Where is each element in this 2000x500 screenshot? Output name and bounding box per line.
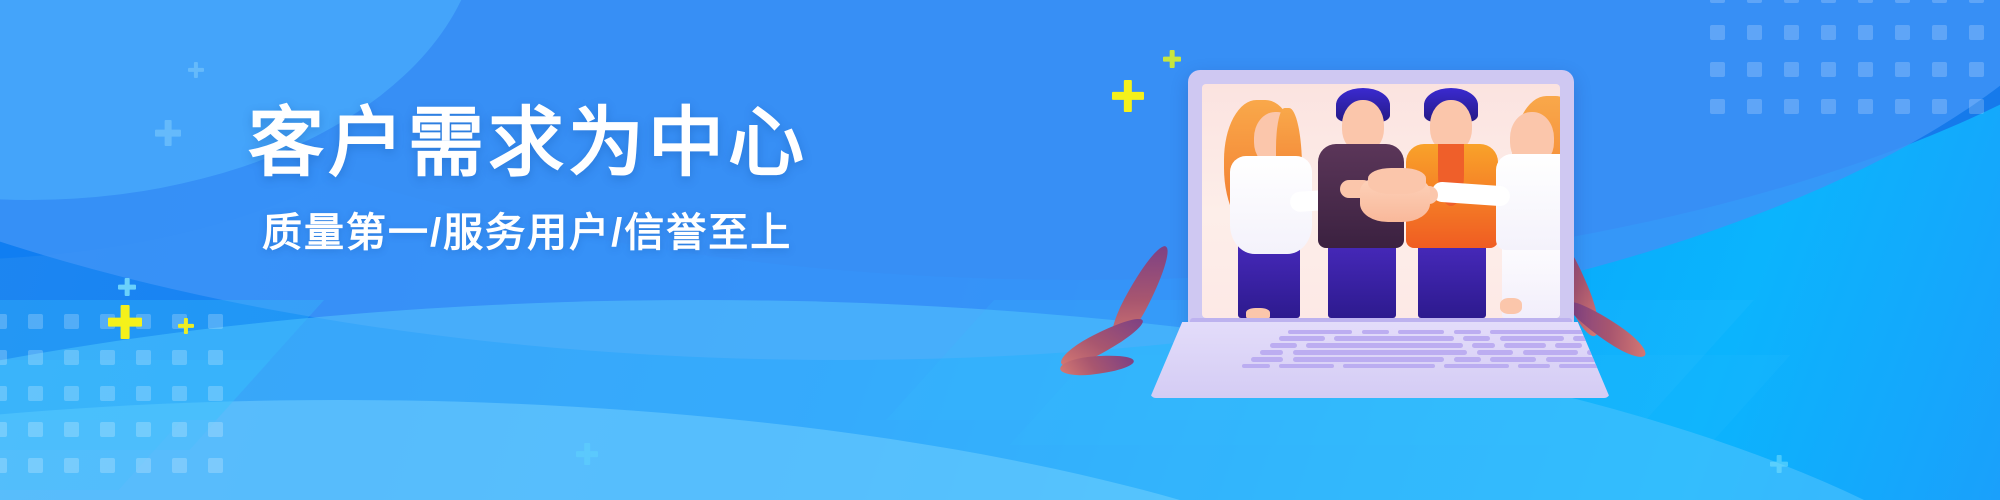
keyboard-key [1587, 350, 1605, 355]
dot [136, 422, 151, 437]
hand [1500, 298, 1522, 314]
dot [1747, 25, 1762, 40]
dot [100, 458, 115, 473]
dot [208, 422, 223, 437]
keyboard-key [1477, 350, 1514, 355]
dot [1932, 25, 1947, 40]
plus-cyan-rightedge-icon [1770, 455, 1788, 473]
dot [1821, 25, 1836, 40]
dot [1895, 99, 1910, 114]
dot [1821, 99, 1836, 114]
dot [208, 350, 223, 365]
keyboard-key [1398, 330, 1444, 335]
keyboard-key [1523, 350, 1578, 355]
keyboard-key [1500, 336, 1564, 341]
keyboard-key [1362, 330, 1390, 335]
dot [100, 422, 115, 437]
dot [1895, 0, 1910, 3]
dot [136, 314, 151, 329]
dot [1969, 25, 1984, 40]
dot-grid-bottom-left [0, 314, 252, 500]
dot [1858, 99, 1873, 114]
dot [1821, 0, 1836, 3]
dot [1969, 99, 1984, 114]
keyboard-key [1592, 343, 1610, 348]
keyboard-key [1444, 364, 1508, 369]
dot [136, 458, 151, 473]
dot [1710, 0, 1725, 3]
plus-cyan-small-left-icon [118, 278, 136, 296]
keyboard-key [1293, 357, 1445, 362]
banner-subtitle: 质量第一/服务用户/信誉至上 [262, 211, 948, 255]
person-woman-right [1484, 92, 1560, 318]
plus-yellow-small-right-icon [1163, 50, 1181, 68]
dot [1747, 0, 1762, 3]
dot [0, 458, 7, 473]
keyboard-key [1288, 330, 1352, 335]
chevron-band-left-1 [0, 300, 324, 420]
page-title: 客户需求为中心 [248, 104, 948, 185]
dot [1932, 0, 1947, 3]
chevron-band-left-3 [0, 420, 182, 490]
keyboard-key [1546, 357, 1601, 362]
dot [1895, 25, 1910, 40]
dot [172, 314, 187, 329]
laptop-illustration [1150, 70, 1610, 360]
dot [28, 458, 43, 473]
keyboard-key [1490, 357, 1536, 362]
dot [100, 350, 115, 365]
dot [28, 314, 43, 329]
laptop-lid [1188, 70, 1574, 328]
background-wave-lower-pale [0, 400, 1540, 500]
dot [0, 422, 7, 437]
dot [1710, 25, 1725, 40]
dot [208, 314, 223, 329]
keyboard-key [1454, 357, 1482, 362]
laptop-screen [1202, 84, 1560, 318]
dot [1821, 62, 1836, 77]
banner-copy: 客户需求为中心 质量第一/服务用户/信誉至上 [248, 104, 948, 255]
dot [172, 386, 187, 401]
keyboard-key [1279, 364, 1334, 369]
keyboard-key [1242, 364, 1270, 369]
plus-yellow-large-right-icon [1112, 80, 1144, 112]
keyboard-key [1454, 330, 1482, 335]
dot [1710, 62, 1725, 77]
keyboard-key [1293, 350, 1468, 355]
stacked-hands-upper [1368, 168, 1426, 194]
keyboard-key [1306, 343, 1462, 348]
dot [100, 314, 115, 329]
dot [1969, 0, 1984, 3]
plus-cyan-mid-left-icon [576, 443, 598, 465]
keyboard-key [1334, 336, 1454, 341]
dot [1858, 62, 1873, 77]
dot [64, 422, 79, 437]
laptop-keyboard-base [1150, 322, 1610, 398]
dot [172, 422, 187, 437]
dot [208, 386, 223, 401]
dot [1858, 25, 1873, 40]
dot [64, 458, 79, 473]
keyboard-key [1270, 343, 1298, 348]
plus-yellow-small-left-icon [178, 318, 194, 334]
keyboard-key [1343, 364, 1435, 369]
dot [0, 386, 7, 401]
dot [28, 350, 43, 365]
dot [1784, 99, 1799, 114]
dot [172, 350, 187, 365]
chevron-band-left-2 [0, 360, 271, 450]
dot [64, 314, 79, 329]
plus-cyan-faint-mid-icon [155, 120, 181, 146]
keyboard-key [1518, 364, 1550, 369]
keyboard-key [1260, 350, 1283, 355]
dot [0, 314, 7, 329]
promo-banner: 客户需求为中心 质量第一/服务用户/信誉至上 [0, 0, 2000, 500]
dot [100, 386, 115, 401]
dot-grid-top-right [1710, 0, 2000, 128]
dot [1747, 99, 1762, 114]
dot [208, 458, 223, 473]
dot [1969, 62, 1984, 77]
dot [64, 386, 79, 401]
dot [136, 350, 151, 365]
dot [64, 350, 79, 365]
dot [1784, 25, 1799, 40]
dot [1932, 62, 1947, 77]
dot [136, 386, 151, 401]
dot [1784, 0, 1799, 3]
dot [1858, 0, 1873, 3]
dot [1932, 99, 1947, 114]
keyboard-key [1504, 343, 1545, 348]
dot [1710, 99, 1725, 114]
dot [1895, 62, 1910, 77]
foot [1246, 308, 1270, 318]
keyboard-key [1472, 343, 1495, 348]
dot [28, 422, 43, 437]
dot [28, 386, 43, 401]
background-wave-lower-light [0, 300, 2000, 500]
plus-cyan-faint-top-icon [188, 62, 204, 78]
keyboard-key [1463, 336, 1491, 341]
dot [1784, 62, 1799, 77]
keyboard-key [1559, 364, 1600, 369]
dot [1747, 62, 1762, 77]
dot [172, 458, 187, 473]
keyboard-key [1555, 343, 1583, 348]
keyboard-key [1251, 357, 1283, 362]
dot [0, 350, 7, 365]
plus-yellow-large-left-icon [108, 305, 142, 339]
keyboard-key [1279, 336, 1325, 341]
